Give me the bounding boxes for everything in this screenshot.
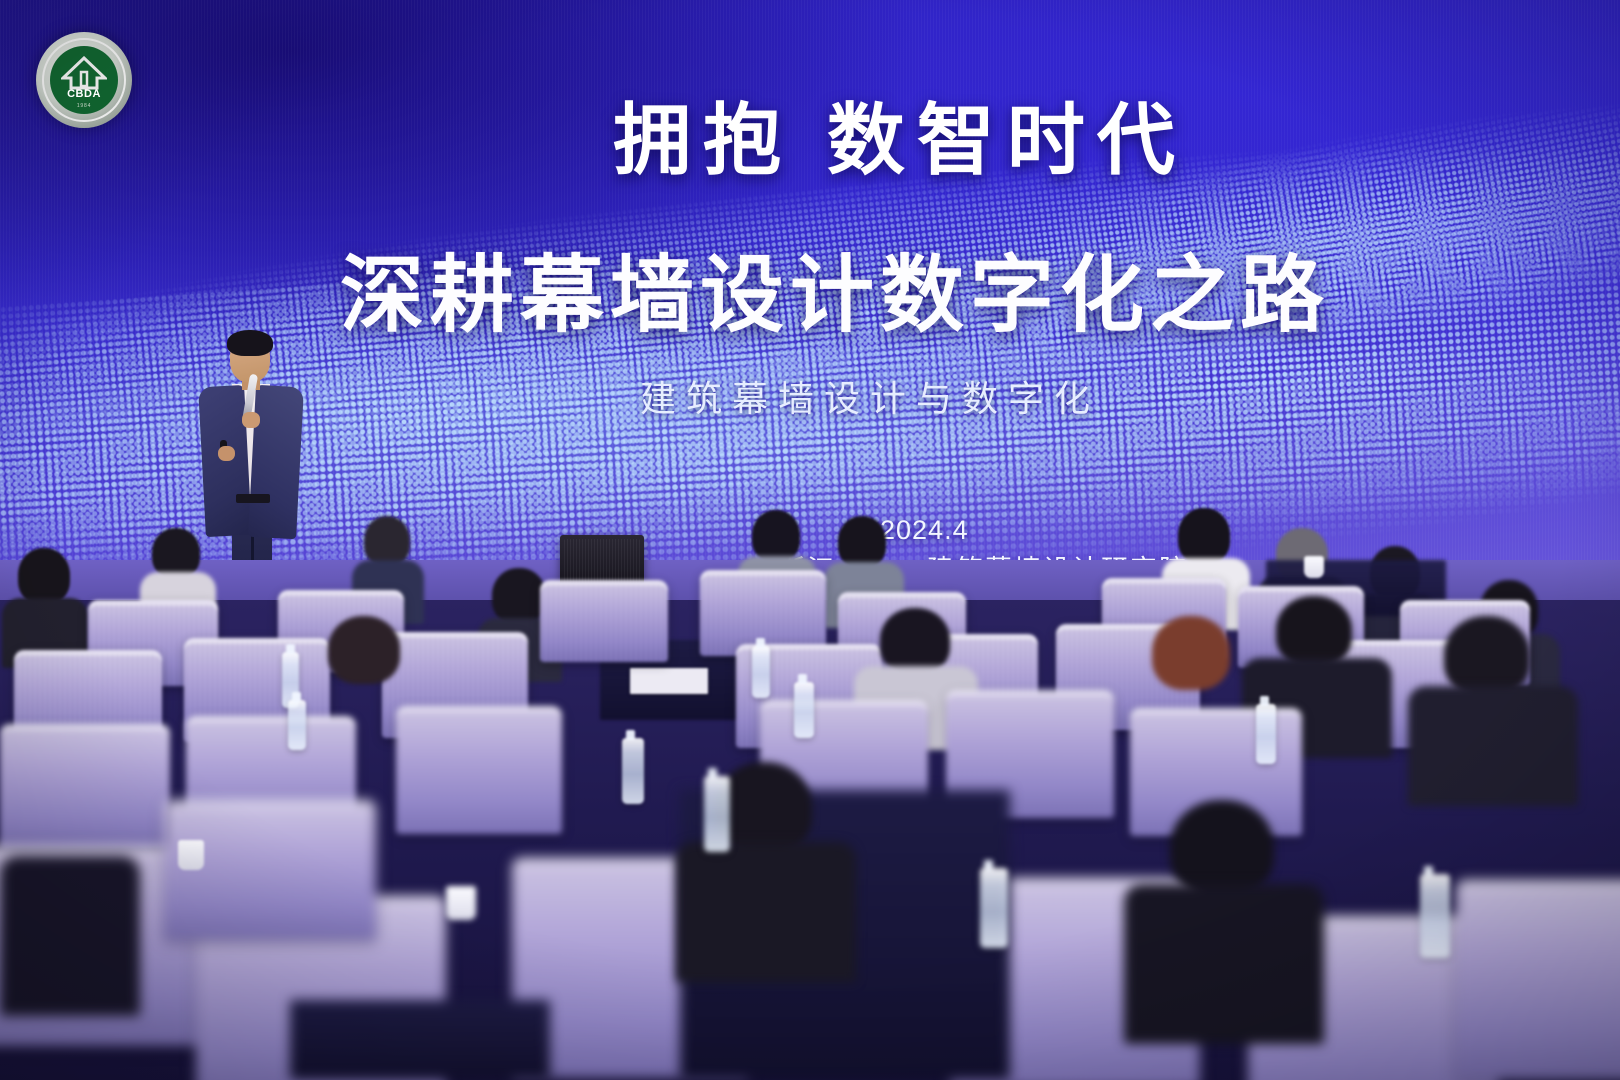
document-papers: [630, 668, 708, 694]
presenter-figure: [196, 334, 306, 596]
person-head: [328, 616, 400, 684]
presenter-hair: [227, 330, 273, 356]
person-head: [1276, 596, 1352, 666]
person-body: [1124, 884, 1324, 1044]
person-head: [880, 608, 950, 674]
paper-cup: [1304, 556, 1324, 578]
conference-table: [290, 1000, 550, 1080]
person-head: [492, 568, 546, 624]
audience-chair: [540, 580, 668, 662]
water-bottle: [1256, 704, 1276, 764]
person-head: [838, 516, 886, 568]
paper-cup: [446, 886, 476, 920]
person-body: [0, 856, 140, 1016]
audience-chair: [164, 800, 376, 940]
person-head: [1170, 800, 1274, 896]
water-bottle: [1420, 874, 1450, 958]
audience-chair: [396, 706, 562, 834]
presenter-jacket-right: [248, 385, 304, 539]
water-bottle: [794, 682, 814, 738]
slide-title-main: 拥抱 数智时代: [0, 78, 1620, 190]
audience-chair: [0, 724, 170, 850]
person-head: [18, 548, 70, 604]
person-body: [1408, 686, 1578, 806]
water-bottle: [752, 646, 770, 698]
water-bottle: [704, 776, 730, 852]
person-head: [752, 510, 800, 562]
logo-acronym: CBDA: [67, 88, 101, 100]
person-head: [1152, 616, 1230, 690]
person-head: [716, 762, 812, 854]
slide-date: 2024.4: [880, 515, 969, 546]
person-body: [676, 842, 856, 982]
logo-year: 1984: [50, 103, 118, 109]
presenter-hand-right: [242, 412, 260, 428]
audience-chair: [1456, 880, 1620, 1080]
person-head: [364, 516, 410, 566]
presenter-hand-left: [218, 446, 235, 461]
conference-photo: 拥抱 数智时代 深耕幕墙设计数字化之路 建筑幕墙设计与数字化 2024.4 浙江…: [0, 0, 1620, 1080]
paper-cup: [178, 840, 204, 870]
logo-inner-disc: CBDA 1984: [50, 46, 118, 114]
water-bottle: [980, 868, 1008, 948]
logo-arch-icon: [61, 56, 107, 90]
logo-outer-ring: CBDA 1984: [42, 38, 126, 122]
presenter-belt: [236, 494, 270, 503]
water-bottle: [622, 738, 644, 804]
person-head: [152, 528, 200, 578]
person-head: [1178, 508, 1230, 564]
cbda-logo-icon: CBDA 1984: [36, 32, 132, 128]
person-head: [1444, 616, 1530, 696]
water-bottle: [288, 700, 306, 750]
